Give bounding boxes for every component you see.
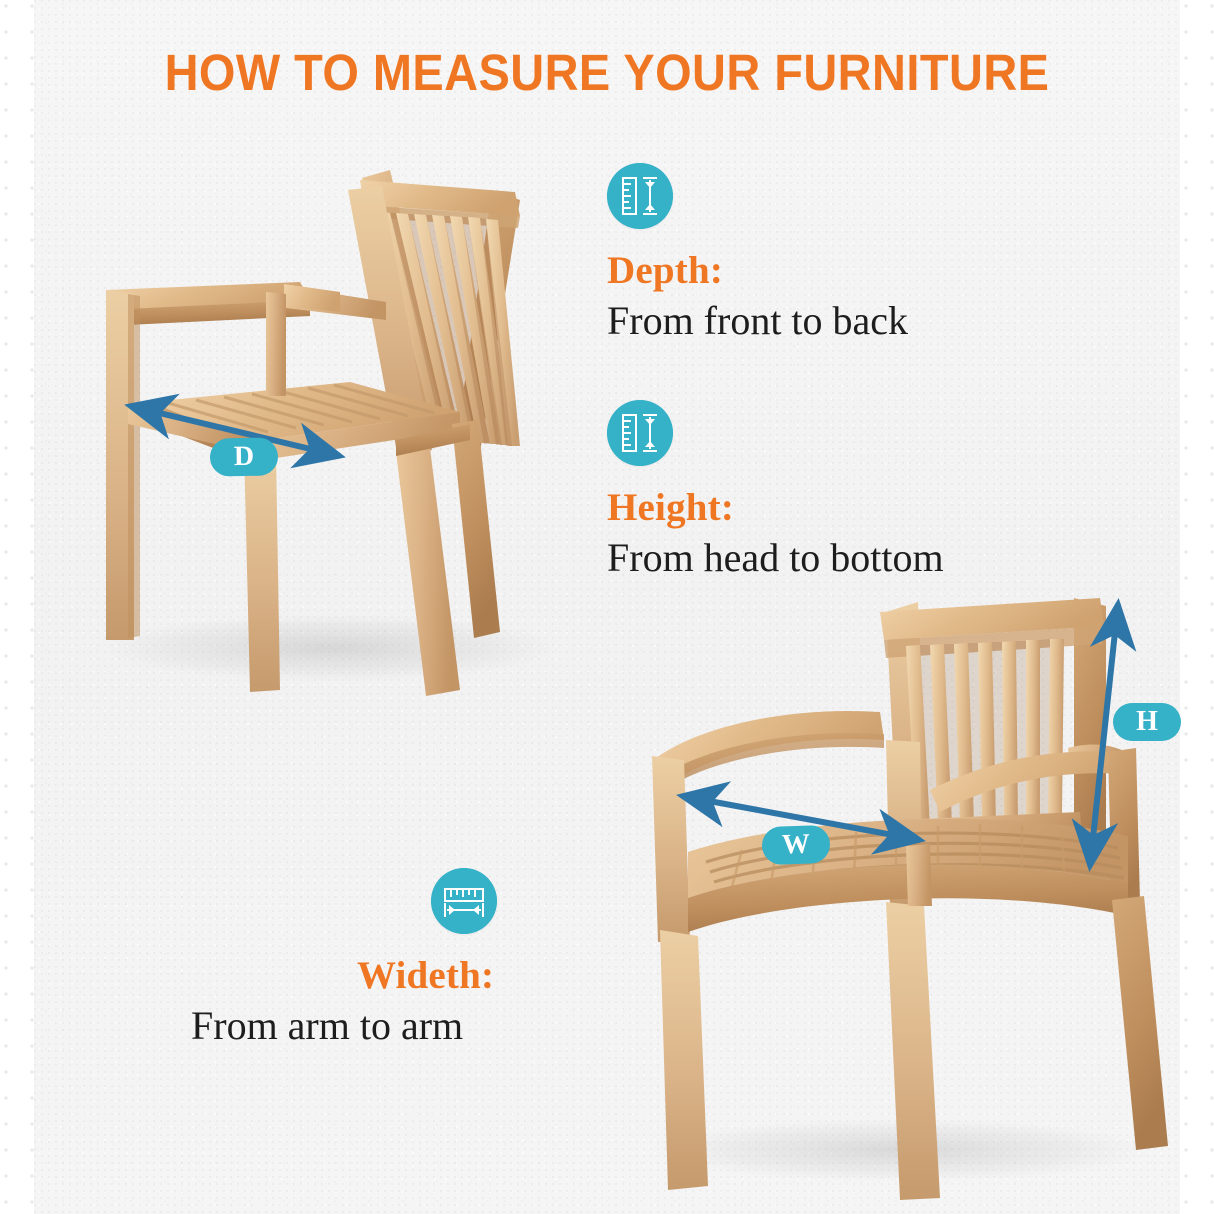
height-label: Height:: [607, 488, 944, 527]
height-info-block: Height: From head to bottom: [607, 400, 944, 579]
width-label: Wideth:: [357, 956, 497, 995]
width-info-block: Wideth: From arm to arm: [353, 868, 497, 1047]
height-description: From head to bottom: [607, 537, 944, 579]
width-description: From arm to arm: [191, 1005, 497, 1047]
infographic-root: HOW TO MEASURE YOUR FURNITURE: [0, 0, 1214, 1214]
vertical-ruler-arrow-icon: [607, 163, 673, 229]
horizontal-ruler-arrow-icon: [431, 868, 497, 934]
depth-info-block: Depth: From front to back: [607, 163, 908, 342]
depth-description: From front to back: [607, 300, 908, 342]
height-icon-wrap: [607, 400, 944, 466]
depth-label: Depth:: [607, 251, 908, 290]
depth-icon-wrap: [607, 163, 908, 229]
height-arrow: [1090, 604, 1118, 866]
vertical-ruler-arrow-icon: [607, 400, 673, 466]
width-badge: W: [761, 825, 830, 865]
height-badge: H: [1113, 703, 1181, 741]
width-icon-wrap: [353, 868, 497, 934]
depth-badge: D: [210, 437, 279, 476]
